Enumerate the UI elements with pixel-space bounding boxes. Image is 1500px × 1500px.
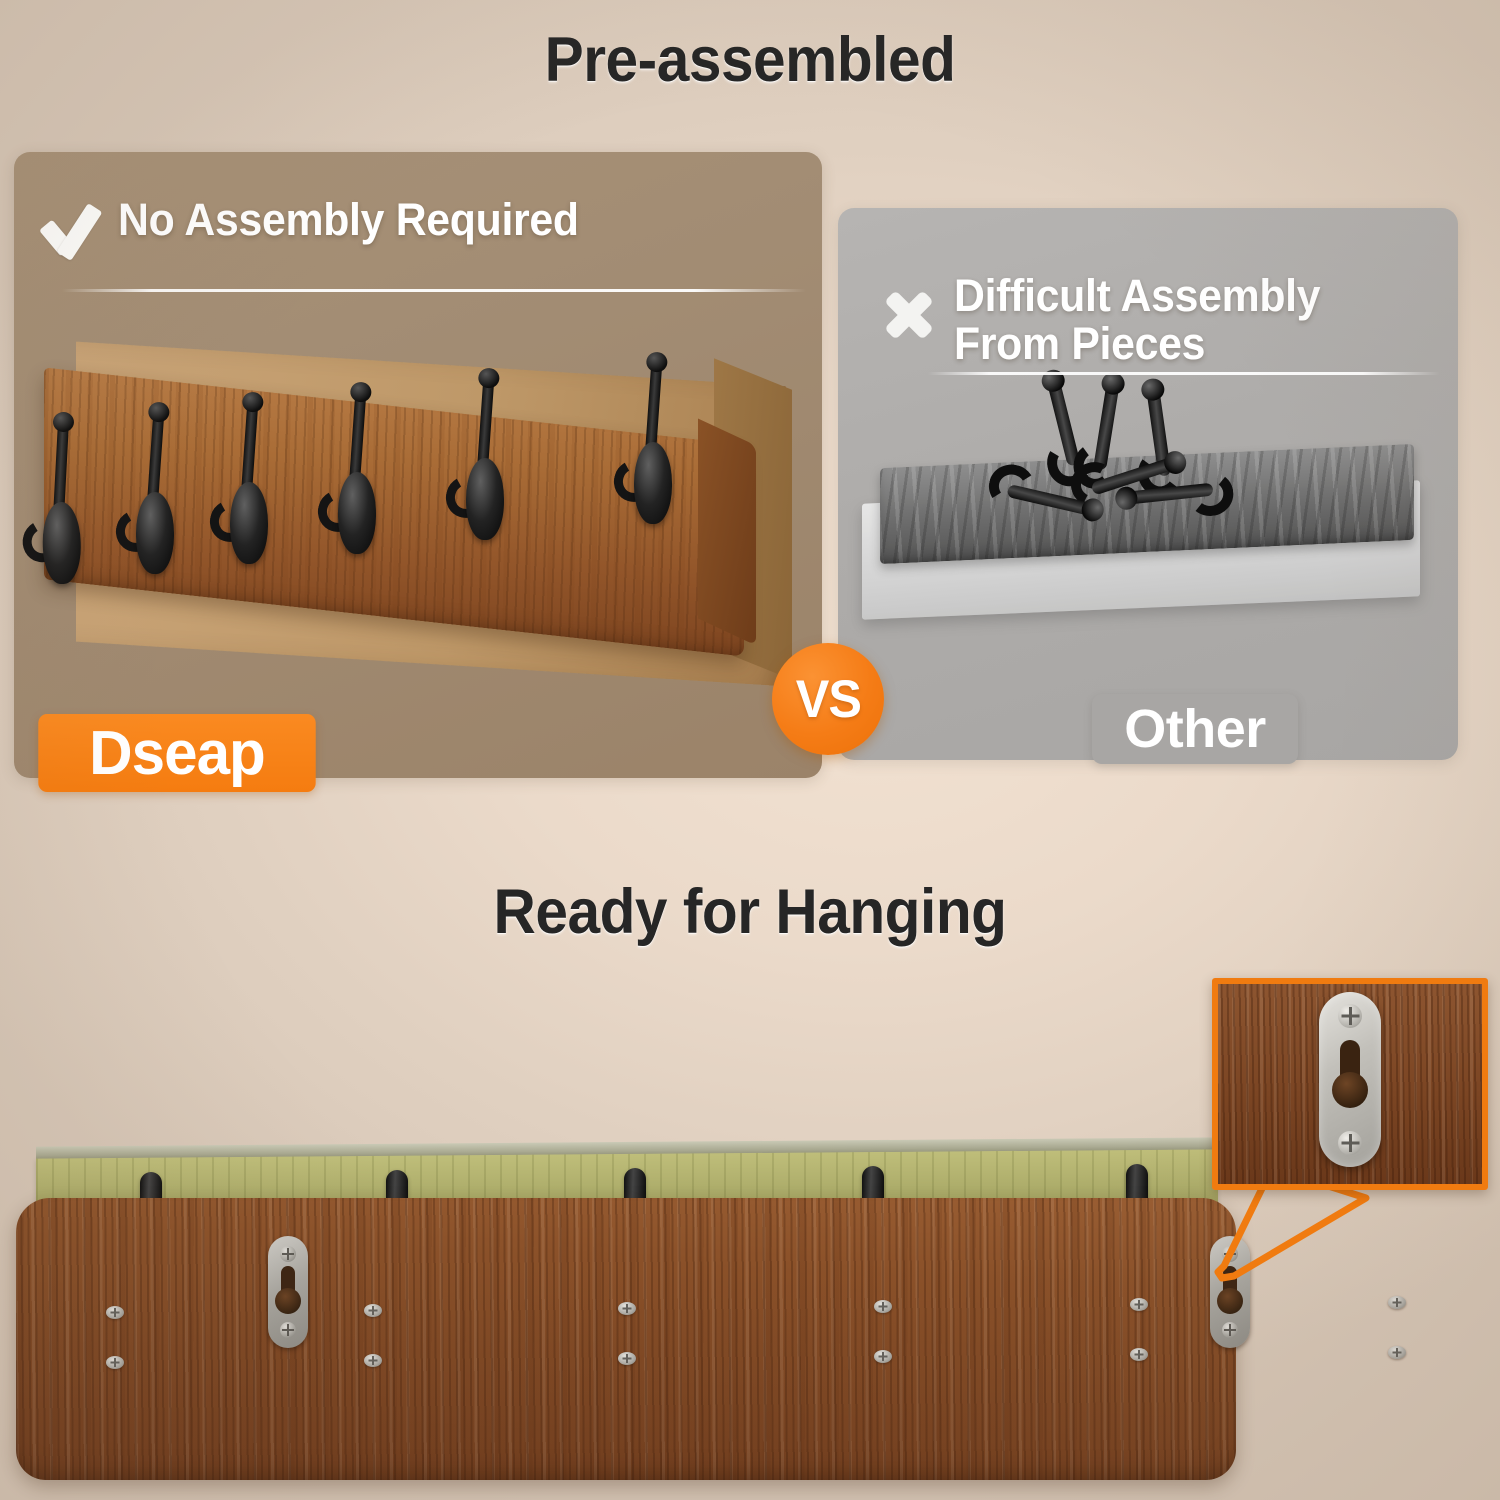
mounting-screw bbox=[364, 1304, 382, 1317]
mounting-screw bbox=[364, 1354, 382, 1367]
keyhole-hanger-left bbox=[268, 1236, 308, 1348]
mounting-screw bbox=[1388, 1346, 1406, 1359]
keyhole-detail-callout bbox=[1212, 978, 1488, 1190]
coat-hook bbox=[124, 406, 184, 576]
versus-label: VS bbox=[795, 669, 860, 730]
rack-back-board bbox=[16, 1198, 1236, 1480]
coat-hook bbox=[454, 372, 514, 542]
keyhole-icon bbox=[1319, 992, 1381, 1167]
page-title-top: Pre-assembled bbox=[53, 24, 1448, 96]
photo-preassembled-rack bbox=[14, 330, 822, 778]
divider-good bbox=[62, 289, 806, 292]
coat-hook bbox=[326, 386, 386, 556]
coat-hook bbox=[218, 396, 278, 566]
versus-badge: VS bbox=[772, 643, 884, 755]
mounting-screw bbox=[874, 1300, 892, 1313]
keyhole-slot bbox=[1340, 1040, 1360, 1086]
x-icon bbox=[880, 286, 938, 344]
mounting-screw bbox=[106, 1356, 124, 1369]
bad-panel-label: Difficult Assembly From Pieces bbox=[954, 272, 1320, 367]
photo-disassembled-pieces bbox=[838, 380, 1458, 680]
page-title-bottom: Ready for Hanging bbox=[53, 876, 1448, 948]
good-panel-header: No Assembly Required bbox=[38, 196, 603, 257]
rack-board-end bbox=[698, 418, 756, 645]
mounting-screw bbox=[106, 1306, 124, 1319]
divider-bad bbox=[928, 372, 1440, 375]
mounting-screw bbox=[1130, 1348, 1148, 1361]
check-icon bbox=[38, 205, 100, 257]
mounting-screw bbox=[618, 1352, 636, 1365]
mounting-screw bbox=[618, 1302, 636, 1315]
brand-badge-dseap: Dseap bbox=[38, 714, 315, 792]
screw-icon bbox=[1338, 1004, 1362, 1028]
mounting-screw bbox=[1130, 1298, 1148, 1311]
brand-badge-other: Other bbox=[1092, 694, 1298, 764]
screw-icon bbox=[1338, 1131, 1362, 1155]
bad-panel-header: Difficult Assembly From Pieces bbox=[880, 272, 1340, 367]
good-panel-label: No Assembly Required bbox=[118, 196, 579, 244]
coat-hook bbox=[29, 415, 92, 586]
mounting-screw bbox=[874, 1350, 892, 1363]
coat-hook bbox=[622, 356, 682, 526]
product-comparison-infographic: Pre-assembled No Assembly Required Dseap bbox=[0, 0, 1500, 1500]
